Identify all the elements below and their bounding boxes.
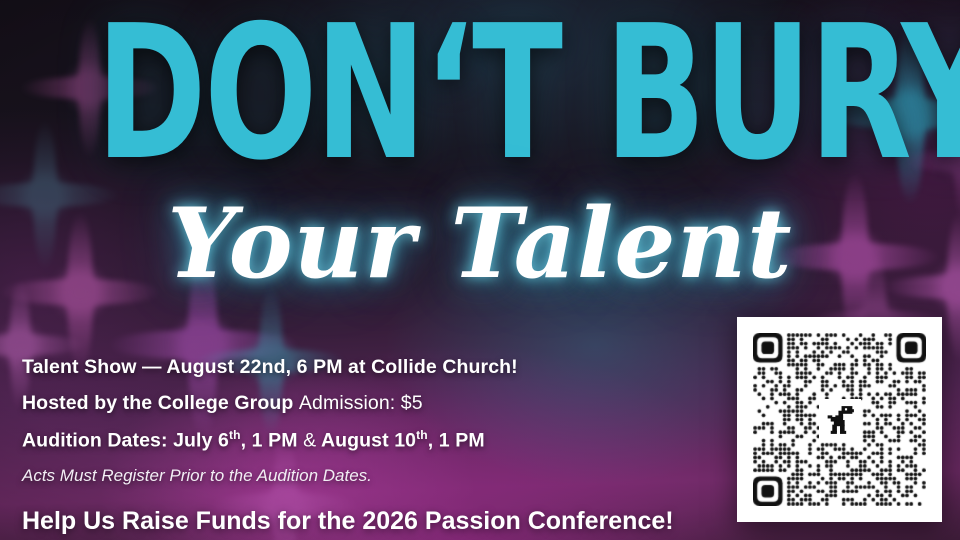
registration-tagline: Acts Must Register Prior to the Audition… bbox=[22, 467, 702, 484]
audition-prefix: Audition Dates: July 6 bbox=[22, 430, 229, 452]
audition-ampersand: & bbox=[303, 430, 316, 452]
hosted-by-text: Hosted by the College Group bbox=[22, 392, 293, 414]
info-line-talent-show: Talent Show — August 22nd, 6 PM at Colli… bbox=[22, 358, 702, 378]
qr-code-panel[interactable] bbox=[737, 317, 942, 522]
admission-text: Admission: $5 bbox=[299, 392, 423, 414]
info-line-hosted-by: Hosted by the College Group Admission: $… bbox=[22, 394, 702, 414]
audition-suffix: August 10 bbox=[316, 430, 416, 452]
page-subtitle-script: Your Talent bbox=[0, 196, 960, 292]
dinosaur-icon bbox=[819, 399, 861, 441]
audition-mid: , 1 PM bbox=[241, 430, 303, 452]
poster-canvas: DON‘T BURY Your Talent Talent Show — Aug… bbox=[0, 0, 960, 540]
audition-ordinal-2: th bbox=[416, 428, 428, 442]
talent-show-text: Talent Show — August 22nd, 6 PM at Colli… bbox=[22, 356, 518, 378]
dinosaur-glyph bbox=[823, 403, 857, 437]
fundraising-cta: Help Us Raise Funds for the 2026 Passion… bbox=[22, 509, 702, 534]
info-block: Talent Show — August 22nd, 6 PM at Colli… bbox=[22, 358, 702, 534]
page-title: DON‘T BURY bbox=[96, 8, 864, 178]
audition-end: , 1 PM bbox=[428, 430, 485, 452]
info-line-audition-dates: Audition Dates: July 6th, 1 PM & August … bbox=[22, 429, 702, 451]
audition-ordinal-1: th bbox=[229, 428, 241, 442]
